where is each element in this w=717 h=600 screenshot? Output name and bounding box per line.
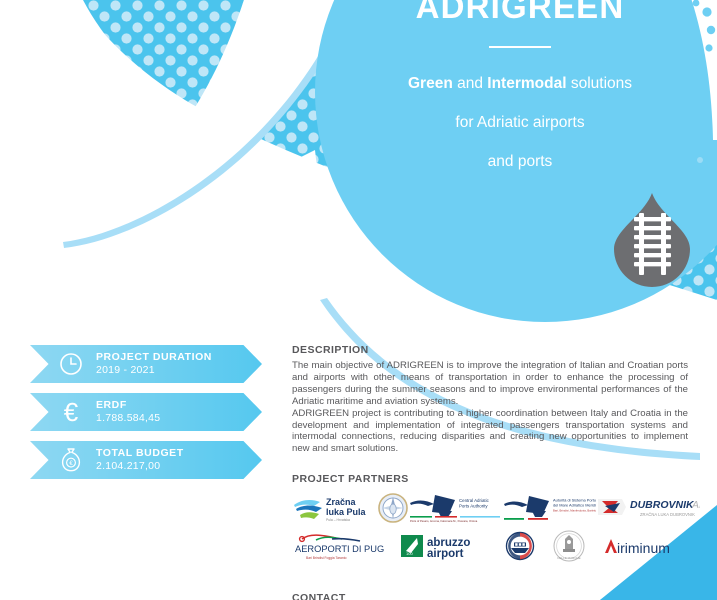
- ribbon-label: TOTAL BUDGET: [96, 447, 184, 460]
- content-column: DESCRIPTION The main objective of ADRIGR…: [292, 344, 688, 562]
- partner-logo-compass-rose: [378, 493, 408, 523]
- poster-root: ADRIGREEN Green and Intermodal solutions…: [0, 0, 717, 600]
- partner-logo-abruzzo-airport: 100 abruzzo airport: [400, 531, 488, 561]
- ribbon-value: 2.104.217,00: [96, 460, 184, 473]
- logo-line2: AIRPORT: [691, 499, 700, 511]
- partner-logo-universita-politecnica-marche: DELLE MARCHE: [552, 530, 586, 562]
- subtitle-line-2: for Adriatic airports: [330, 103, 710, 142]
- poster-subtitle: Green and Intermodal solutionsfor Adriat…: [330, 64, 710, 181]
- logo-line2: luka Pula: [326, 507, 367, 517]
- subtitle-line-1: Green and Intermodal solutions: [330, 64, 710, 103]
- fact-ribbons: PROJECT DURATION 2019 - 2021 € ERDF 1.78…: [30, 345, 262, 489]
- svg-text:100: 100: [406, 551, 413, 556]
- partner-logo-zracna-luka-pula: Zračna luka Pula Pula – Hrvatska: [292, 493, 378, 523]
- subtitle-part: Green: [408, 75, 453, 92]
- subtitle-part: Intermodal: [487, 75, 566, 92]
- subtitle-part: solutions: [567, 75, 632, 92]
- partner-logo-dubrovnik-airport: DUBROVNIK AIRPORT ZRAČNA LUKA DUBROVNIK: [596, 494, 700, 522]
- description-paragraph: The main objective of ADRIGREEN is to im…: [292, 360, 688, 408]
- partner-logo-central-adriatic-ports-authority: Central Adriatic Ports Authority Ports o…: [408, 492, 502, 523]
- subtitle-part: and: [453, 75, 487, 92]
- description-title: DESCRIPTION: [292, 344, 688, 356]
- logo-line1: Central Adriatic: [459, 498, 490, 503]
- description-paragraph: ADRIGREEN project is contributing to a h…: [292, 408, 688, 456]
- partners-logos: Zračna luka Pula Pula – Hrvatska: [292, 491, 688, 562]
- partners-title: PROJECT PARTNERS: [292, 473, 688, 485]
- description-body: The main objective of ADRIGREEN is to im…: [292, 360, 688, 455]
- logo-line1: iriminum: [617, 540, 670, 556]
- subtitle-line-3: and ports: [330, 142, 710, 181]
- page-title: ADRIGREEN: [330, 0, 710, 28]
- title-divider: [489, 46, 551, 48]
- svg-text:DELLE MARCHE: DELLE MARCHE: [557, 556, 580, 560]
- partner-row: Zračna luka Pula Pula – Hrvatska: [292, 491, 688, 524]
- logo-line2: airport: [427, 548, 464, 560]
- partner-logo-port-authority-seal: [504, 531, 536, 561]
- ribbon-total-budget: € TOTAL BUDGET 2.104.217,00: [30, 441, 262, 479]
- ribbon-project-duration: PROJECT DURATION 2019 - 2021: [30, 345, 262, 383]
- logo-sub: Ports of Pesaro, Ancona, Falconara M., P…: [410, 519, 478, 523]
- logo-line2: del Mare Adriatico Meridionale: [553, 503, 596, 508]
- ribbon-value: 2019 - 2021: [96, 364, 212, 377]
- money-bag-icon: €: [58, 447, 84, 473]
- ribbon-label: PROJECT DURATION: [96, 351, 212, 364]
- logo-line1: DUBROVNIK: [630, 499, 695, 511]
- logo-sub: Pula – Hrvatska: [326, 518, 350, 522]
- ribbon-value: 1.788.584,45: [96, 412, 160, 425]
- logo-sub: ZRAČNA LUKA DUBROVNIK: [640, 512, 695, 517]
- logo-sub: Bari Brindisi Foggia Taranto: [306, 556, 347, 560]
- poster-header: ADRIGREEN Green and Intermodal solutions…: [330, 0, 710, 181]
- subtitle-part: and ports: [488, 153, 553, 170]
- clock-icon: [58, 351, 84, 377]
- partner-row: AEROPORTI DI PUGLIA Bari Brindisi Foggia…: [292, 529, 688, 562]
- euro-icon: €: [58, 399, 84, 425]
- contact-title: CONTACT: [292, 592, 346, 600]
- partner-logo-aeroporti-di-puglia: AEROPORTI DI PUGLIA Bari Brindisi Foggia…: [292, 530, 384, 562]
- partner-logo-autorita-sistema-portuale: Autorità di Sistema Portuale del Mare Ad…: [502, 492, 596, 523]
- logo-line1: Zračna: [326, 497, 357, 507]
- ribbon-label: ERDF: [96, 399, 160, 412]
- ribbon-erdf: € ERDF 1.788.584,45: [30, 393, 262, 431]
- partner-logo-airiminum: iriminum: [602, 534, 670, 558]
- logo-line2: Ports Authority: [459, 504, 488, 509]
- subtitle-part: for Adriatic airports: [455, 114, 584, 131]
- logo-line1: AEROPORTI DI PUGLIA: [295, 544, 384, 554]
- logo-sub: Bari, Brindisi, Manfredonia, Barletta, M…: [553, 509, 596, 513]
